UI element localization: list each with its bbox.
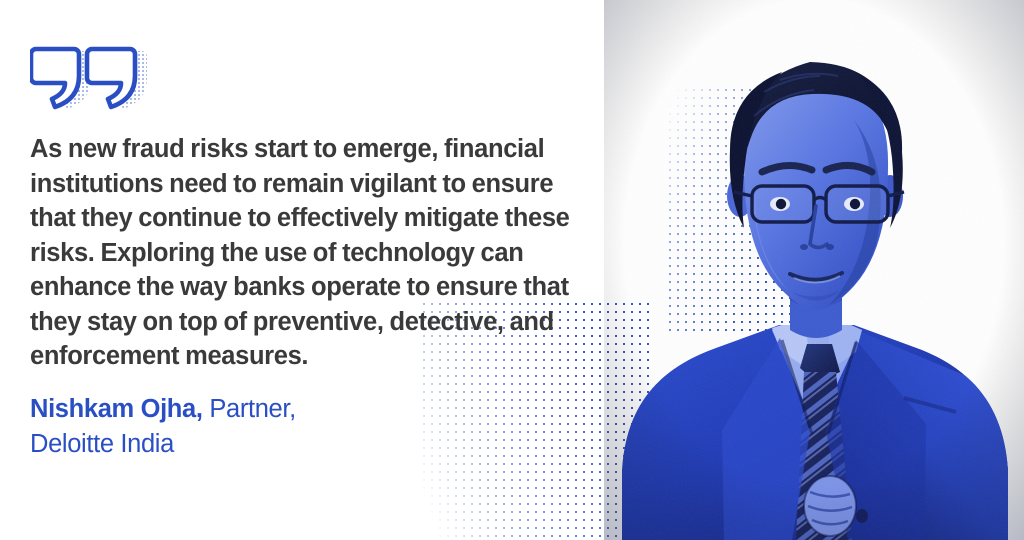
closing-quote-mark-icon [30, 44, 150, 114]
attribution: Nishkam Ojha, Partner, Deloitte India [30, 392, 510, 462]
attribution-organization: Deloitte India [30, 430, 174, 458]
portrait-image [604, 0, 1024, 540]
quote-card: As new fraud risks start to emerge, fina… [0, 0, 1024, 540]
attribution-name: Nishkam Ojha, [30, 395, 203, 423]
quote-text: As new fraud risks start to emerge, fina… [30, 132, 575, 374]
attribution-role: Partner, [203, 395, 296, 423]
